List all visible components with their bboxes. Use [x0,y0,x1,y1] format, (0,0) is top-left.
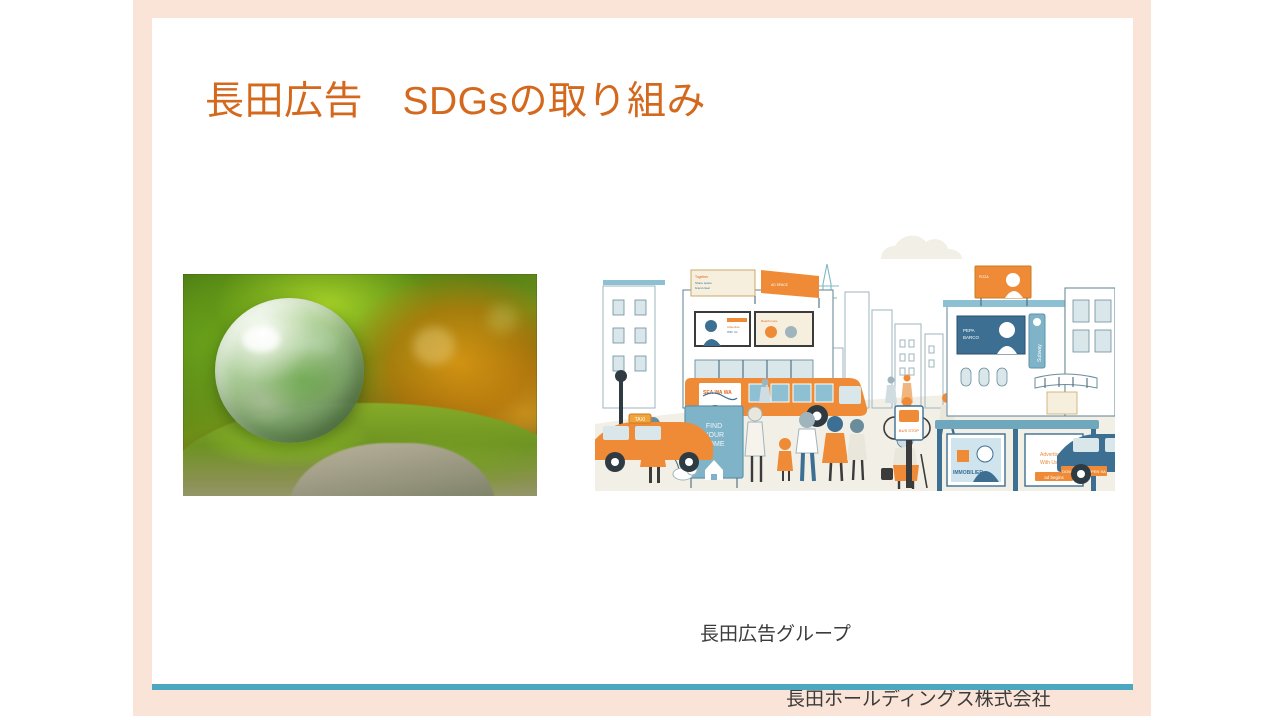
svg-text:TAXI: TAXI [635,417,646,423]
accent-rule [152,684,1133,690]
photo-globe-highlight [242,327,281,352]
street-sign-line1: FIND [706,423,722,430]
shop-building: PIZZA PEPA BARCO Subway [943,266,1115,416]
company-group-name: 長田広告グループ [700,624,1051,646]
shop-top-billboard [975,266,1031,298]
company-block: 長田広告グループ 長田ホールディングス株式会社 長田広告株式会社 NAGATA … [700,581,1051,720]
bus-stop-pole-text: BUS STOP [899,428,919,433]
rooftop-billboard-right-text: AD SPACE [771,283,789,287]
rooftop-billboard-left-text: Together [695,275,709,279]
svg-text:With Us: With Us [727,330,738,334]
city-illustration: .ln{fill:none;stroke:#4a6b7c;stroke-widt… [595,228,1115,491]
left-apartment-building [603,280,665,408]
shop-wall-ad-line2: BARCO [963,335,980,340]
vertical-banner-text: Subway [1037,344,1043,362]
bus-side-ad-text: SEA WA WA [703,390,732,396]
slide-root: 長田広告 SDGsの取り組み .ln{fill:none;stroke:#4a6… [0,0,1280,720]
bus-stop-ad-line2: With Us [1040,460,1058,466]
wall-panel-right [755,312,813,346]
cloud-shape [881,236,962,259]
wall-panel-left [695,312,750,346]
shop-wall-ad-line1: PEPA [963,328,975,333]
shop-top-billboard-text: PIZZA [979,275,989,279]
globe-photo [183,274,537,496]
svg-text:Advertise: Advertise [727,325,740,329]
photo-glass-globe [215,298,364,442]
bus-stop-poster-text: IMMOBILIER [953,470,983,476]
company-entity-holdings: 長田ホールディングス株式会社 [700,689,1051,711]
svg-text:Share space: Share space [695,281,712,285]
page-title: 長田広告 SDGsの取り組み [205,78,706,126]
svg-text:brand clear: brand clear [695,286,710,290]
svg-text:Reach more: Reach more [761,319,778,323]
